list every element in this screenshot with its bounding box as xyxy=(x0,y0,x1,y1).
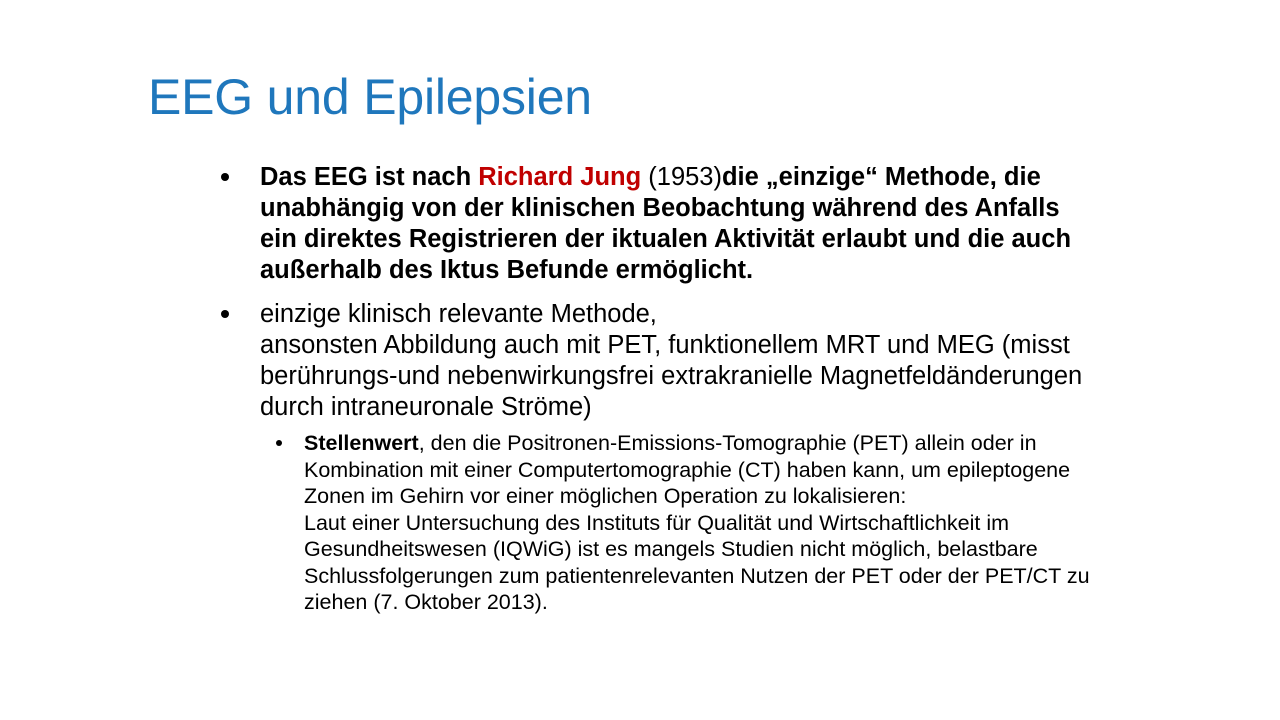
bullet-list-level1: Das EEG ist nach Richard Jung (1953)die … xyxy=(212,162,1102,616)
list-item-bullet-2: einzige klinisch relevante Methode, anso… xyxy=(212,299,1102,616)
bullet-2-line-2: ansonsten Abbildung auch mit PET, funkti… xyxy=(260,330,1102,423)
slide-canvas: EEG und Epilepsien Das EEG ist nach Rich… xyxy=(0,0,1280,720)
bullet-3-remainder: , den die Positronen-Emissions-Tomograph… xyxy=(304,431,1070,508)
bullet-1-highlight-name: Richard Jung xyxy=(478,163,641,191)
content-placeholder: Das EEG ist nach Richard Jung (1953)die … xyxy=(212,162,1102,629)
bullet-1-year: (1953) xyxy=(641,163,722,191)
list-item-bullet-1: Das EEG ist nach Richard Jung (1953)die … xyxy=(212,162,1102,286)
list-item-bullet-3: Stellenwert, den die Positronen-Emission… xyxy=(262,430,1102,616)
bullet-3-line-2: Laut einer Untersuchung des Instituts fü… xyxy=(304,510,1094,616)
bullet-dot-icon xyxy=(221,310,229,318)
bullet-3-keyword: Stellenwert xyxy=(304,431,419,455)
bullet-3-text: Stellenwert, den die Positronen-Emission… xyxy=(304,430,1094,510)
bullet-2-line-1: einzige klinisch relevante Methode, xyxy=(260,299,1102,330)
bullet-1-segment-lead: Das EEG ist nach xyxy=(260,163,478,191)
page-title: EEG und Epilepsien xyxy=(148,66,1148,128)
bullet-dot-icon xyxy=(221,173,229,181)
bullet-list-level3: Stellenwert, den die Positronen-Emission… xyxy=(260,430,1102,616)
title-placeholder: EEG und Epilepsien xyxy=(148,66,1148,136)
bullet-dot-small-icon xyxy=(276,440,282,446)
bullet-1-text: Das EEG ist nach Richard Jung (1953)die … xyxy=(260,162,1102,286)
